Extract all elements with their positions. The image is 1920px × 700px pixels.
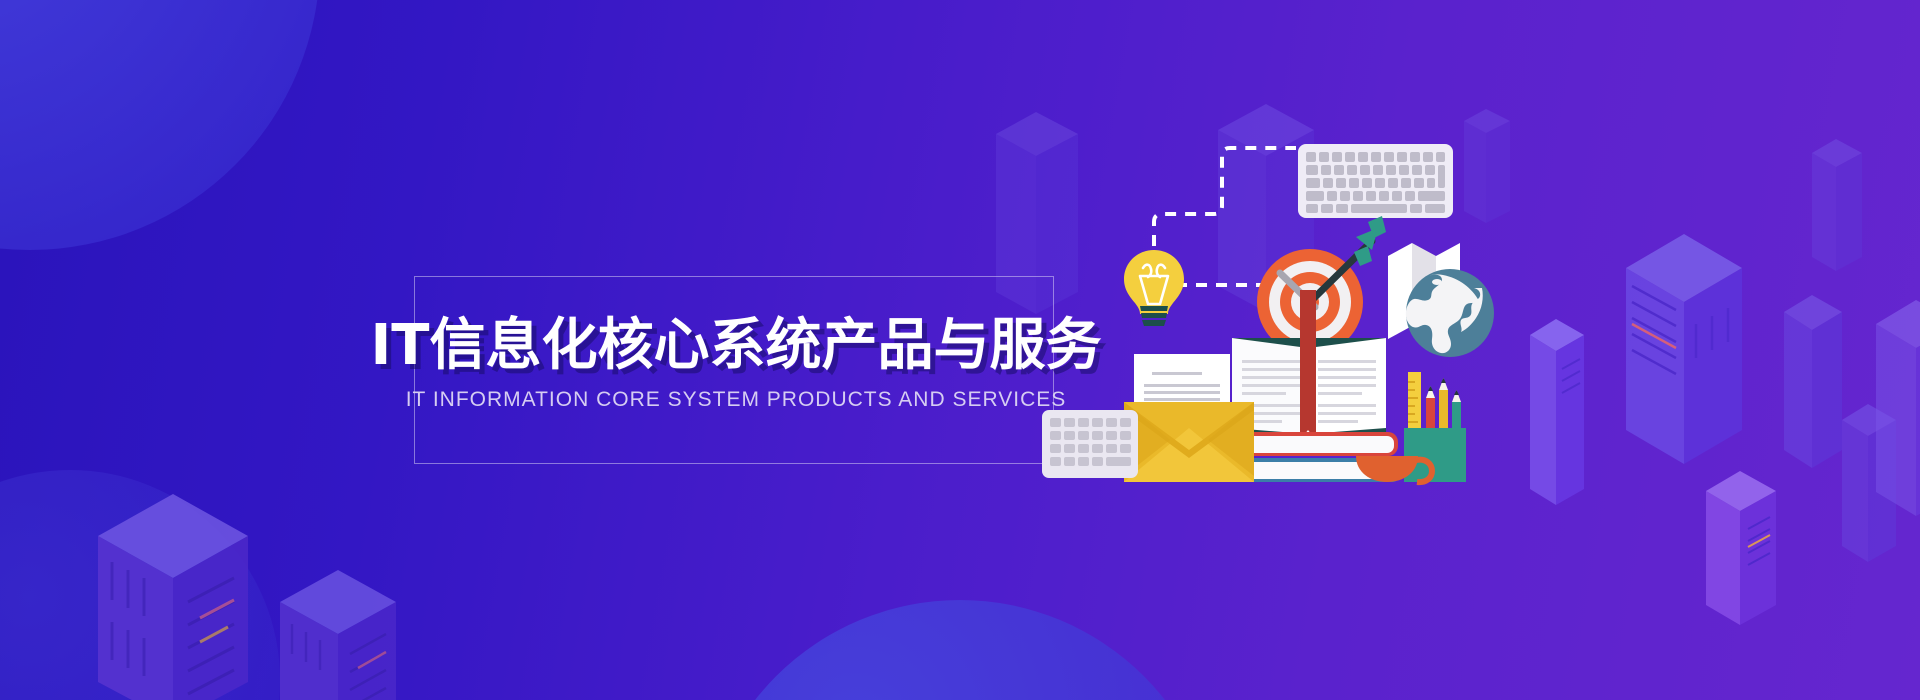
decor-circle-bottom-center: [700, 600, 1220, 700]
lightbulb-icon: [1124, 250, 1184, 326]
open-book-icon: [1232, 290, 1386, 440]
isometric-building-9: [1808, 135, 1888, 285]
headline-block: IT信息化核心系统产品与服务 IT INFORMATION CORE SYSTE…: [356, 316, 1116, 412]
isometric-building-10: [1526, 315, 1606, 525]
hero-banner: IT信息化核心系统产品与服务 IT INFORMATION CORE SYSTE…: [0, 0, 1920, 700]
page-subtitle: IT INFORMATION CORE SYSTEM PRODUCTS AND …: [356, 388, 1116, 412]
isometric-building-4: [1618, 228, 1788, 488]
decor-circle-top-left: [0, 0, 320, 250]
hero-illustration: [1110, 110, 1510, 480]
isometric-building-8: [1872, 290, 1920, 540]
envelope-icon: [1124, 402, 1254, 482]
isometric-building-5: [1700, 465, 1810, 645]
isometric-building-2: [272, 568, 452, 700]
keyboard-icon: [1298, 144, 1453, 218]
small-keyboard-icon: [1042, 410, 1138, 478]
book-stack-red: [1238, 432, 1398, 456]
globe-icon: [1406, 269, 1494, 357]
page-title: IT信息化核心系统产品与服务: [356, 316, 1116, 376]
